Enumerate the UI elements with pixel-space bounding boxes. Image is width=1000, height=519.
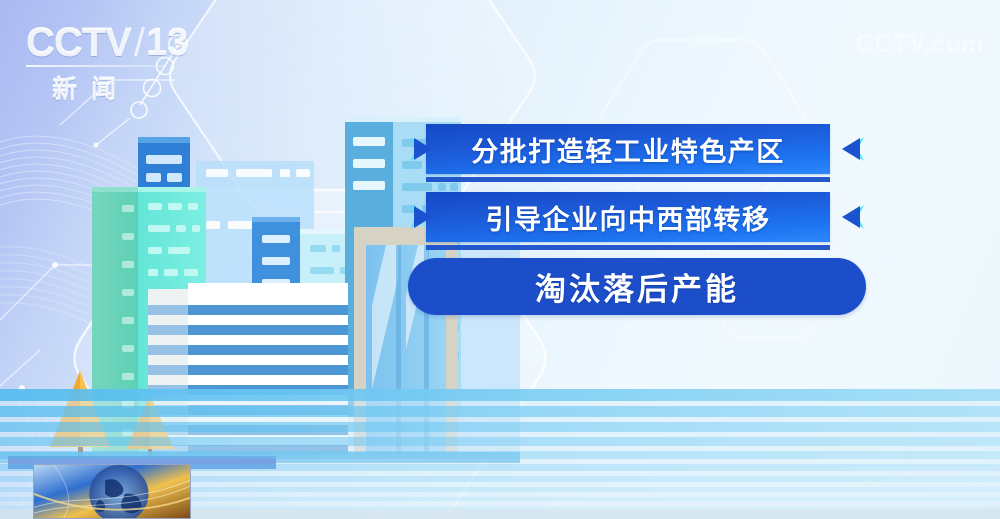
banner-2[interactable]: 引导企业向中西部转移	[408, 192, 866, 242]
banner-1-underline	[426, 177, 830, 182]
chevron-left-icon	[836, 135, 866, 163]
broadcast-graphic-frame: 分批打造轻工业特色产区 引导企业向中西部转移 淘汰落	[0, 0, 1000, 519]
banner-3[interactable]: 淘汰落后产能	[408, 258, 866, 315]
banner-2-underline	[426, 245, 830, 250]
logo-cctv-text: CCTV	[26, 22, 131, 64]
logo-underbar	[26, 65, 166, 67]
logo-separator: /	[134, 22, 145, 64]
banner-2-text: 引导企业向中西部转移	[426, 192, 830, 242]
banner-1-text: 分批打造轻工业特色产区	[426, 124, 830, 174]
logo-channel-number: 13	[146, 22, 188, 64]
cctv-com-watermark: CCTV.com	[856, 30, 984, 59]
chevron-left-icon	[836, 203, 866, 231]
banner-3-pill: 淘汰落后产能	[408, 258, 866, 315]
logo-subtitle: 新闻	[26, 70, 156, 106]
cctv-channel-logo: CCTV / 13 新闻	[26, 18, 186, 94]
banner-1[interactable]: 分批打造轻工业特色产区	[408, 124, 866, 174]
banner-3-text: 淘汰落后产能	[535, 264, 739, 309]
